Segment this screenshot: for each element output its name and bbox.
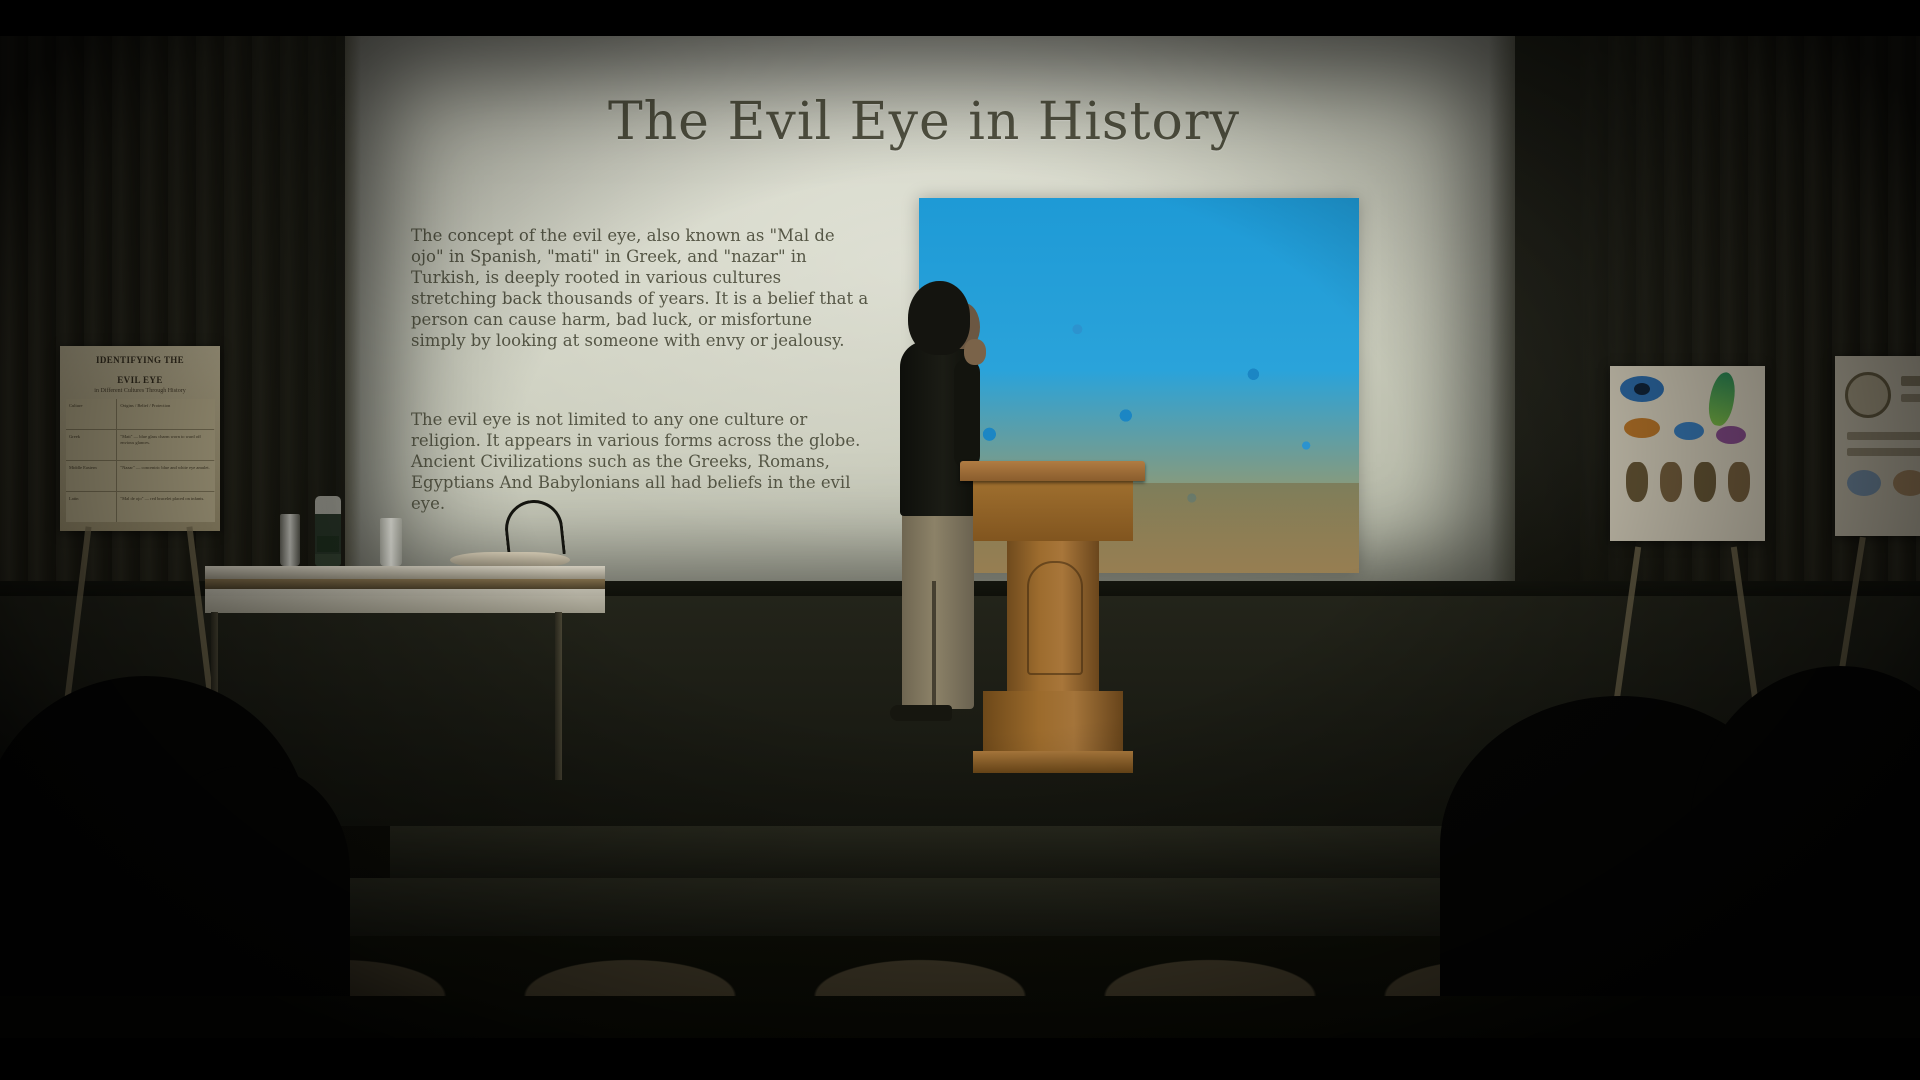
table-rail [205, 579, 605, 589]
circle-chart-icon [1845, 372, 1891, 418]
podium-plinth [973, 751, 1133, 773]
presenter-legs [902, 509, 974, 709]
drinking-glass [380, 518, 402, 566]
audience-chairs [200, 906, 1600, 996]
pupil-icon [1634, 383, 1650, 395]
slide-title: The Evil Eye in History [359, 92, 1489, 152]
presenter-arm [954, 359, 980, 469]
podium-top [960, 461, 1145, 481]
bottle-label [317, 536, 339, 552]
poster-right1-artwork [1610, 366, 1765, 541]
slide-paragraph-2: The evil eye is not limited to any one c… [411, 409, 871, 514]
text-line [1847, 448, 1920, 456]
eye-icon [1624, 418, 1660, 438]
text-line [1901, 394, 1920, 402]
poster-left-cell-value: "Mati" — blue glass charm worn to ward o… [117, 430, 215, 460]
eye-icon [1674, 422, 1704, 440]
auditorium-room: The Evil Eye in History The concept of t… [0, 36, 1920, 1038]
charm-icon [1660, 462, 1682, 502]
podium-panel [1027, 561, 1083, 675]
poster-eye-charms [1835, 356, 1920, 536]
eye-icon [1893, 470, 1920, 496]
text-line [1901, 376, 1920, 386]
charm-icon [1728, 462, 1750, 502]
charm-icon [1694, 462, 1716, 502]
poster-evil-eye-symbols [1610, 366, 1765, 541]
poster-left-subtitle: in Different Cultures Through History [60, 388, 220, 394]
slide-paragraph-1: The concept of the evil eye, also known … [411, 225, 871, 351]
poster-left-cell-value: "Mal de ojo" — red bracelet placed on in… [117, 492, 215, 522]
poster-left-cell-value: "Nazar" — concentric blue and white eye … [117, 461, 215, 491]
table-top [205, 566, 605, 580]
poster-right2-artwork [1835, 356, 1920, 536]
table-leg [555, 612, 562, 780]
podium-base [983, 691, 1123, 757]
poster-left-title-line2: EVIL EYE [66, 375, 214, 386]
poster-identifying-the-evil-eye: IDENTIFYING THE EVIL EYE in Different Cu… [60, 346, 220, 531]
poster-left-table: Culture Origins / Belief / Protection Gr… [66, 399, 214, 522]
podium-column [1007, 539, 1099, 694]
presenter-hair [908, 281, 970, 355]
podium [965, 461, 1140, 791]
charm-icon [1626, 462, 1648, 502]
feather-icon [1705, 370, 1738, 427]
poster-left-cell-label: Greek [66, 430, 116, 460]
letterbox-bottom [0, 1038, 1920, 1080]
poster-left-cell-label: Latin [66, 492, 116, 522]
text-line [1847, 432, 1920, 440]
slide-body: The concept of the evil eye, also known … [411, 225, 871, 572]
poster-left-title-line1: IDENTIFYING THE [66, 355, 214, 366]
drinking-glass [280, 514, 300, 566]
podium-face [973, 479, 1133, 541]
scene-root: The Evil Eye in History The concept of t… [0, 0, 1920, 1080]
screen-edge-right [1489, 36, 1515, 601]
water-bottle [315, 496, 341, 566]
poster-left-cell-value: Origins / Belief / Protection [117, 399, 215, 429]
eye-icon [1716, 426, 1746, 444]
table-apron [205, 589, 605, 613]
presenter-shoe [890, 705, 952, 721]
eye-icon [1847, 470, 1881, 496]
presenter-hand [964, 339, 986, 365]
letterbox-top [0, 0, 1920, 36]
poster-left-cell-label: Culture [66, 399, 116, 429]
stage-step [390, 826, 1570, 878]
audience-silhouette [150, 766, 350, 996]
poster-left-cell-label: Middle Eastern [66, 461, 116, 491]
presenter-leg-split [932, 581, 936, 709]
